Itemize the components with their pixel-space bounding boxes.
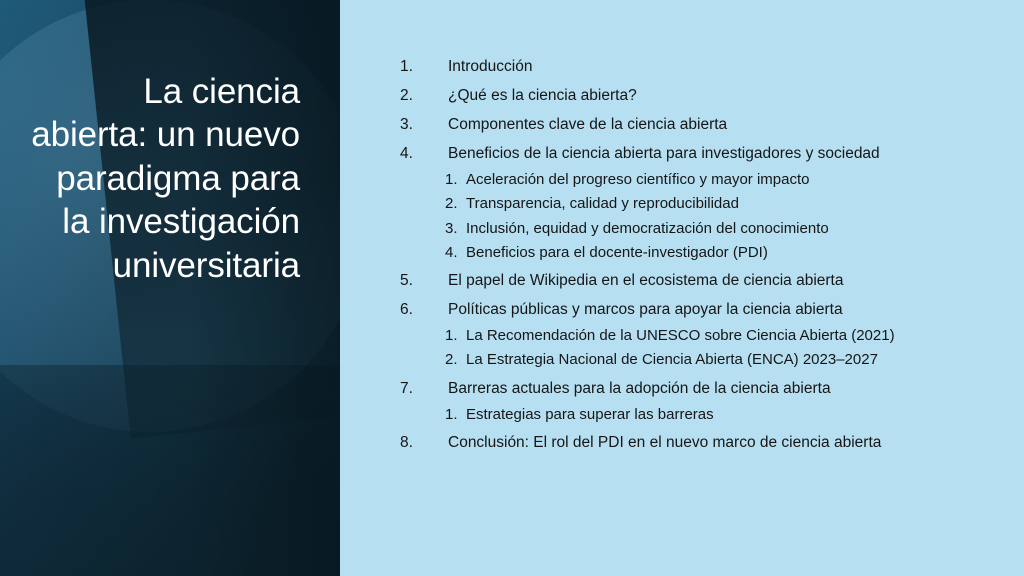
toc-subitem-label: La Estrategia Nacional de Ciencia Abiert… — [466, 349, 1010, 370]
toc-subitem-number: 1. — [445, 404, 466, 425]
toc-item-label: Conclusión: El rol del PDI en el nuevo m… — [448, 432, 1010, 454]
toc-item-label: Introducción — [448, 56, 1010, 78]
toc-group: 3.Componentes clave de la ciencia abiert… — [400, 114, 1010, 136]
toc-subitem[interactable]: 2.La Estrategia Nacional de Ciencia Abie… — [400, 349, 1010, 370]
toc-group: 6.Políticas públicas y marcos para apoya… — [400, 299, 1010, 371]
toc-subitem-label: Estrategias para superar las barreras — [466, 404, 1010, 425]
toc-subitem-number: 1. — [445, 325, 466, 346]
toc-subitem-label: Transparencia, calidad y reproducibilida… — [466, 193, 1010, 214]
toc-subitem-number: 1. — [445, 169, 466, 190]
presentation-slide: La ciencia abierta: un nuevo paradigma p… — [0, 0, 1024, 576]
table-of-contents: 1.Introducción2.¿Qué es la ciencia abier… — [400, 56, 1010, 461]
toc-sublist: 1.Aceleración del progreso científico y … — [400, 169, 1010, 263]
toc-subitem[interactable]: 4.Beneficios para el docente-investigado… — [400, 242, 1010, 263]
toc-subitem[interactable]: 1.Aceleración del progreso científico y … — [400, 169, 1010, 190]
toc-subitem-number: 3. — [445, 218, 466, 239]
slide-title: La ciencia abierta: un nuevo paradigma p… — [30, 70, 300, 287]
toc-item-number: 6. — [400, 299, 448, 321]
toc-group: 1.Introducción — [400, 56, 1010, 78]
toc-subitem-label: Aceleración del progreso científico y ma… — [466, 169, 1010, 190]
content-panel: 1.Introducción2.¿Qué es la ciencia abier… — [340, 0, 1024, 576]
toc-item-number: 3. — [400, 114, 448, 136]
toc-subitem-label: Beneficios para el docente-investigador … — [466, 242, 1010, 263]
toc-group: 2.¿Qué es la ciencia abierta? — [400, 85, 1010, 107]
toc-subitem-number: 4. — [445, 242, 466, 263]
toc-item[interactable]: 4.Beneficios de la ciencia abierta para … — [400, 143, 1010, 165]
toc-item-label: Políticas públicas y marcos para apoyar … — [448, 299, 1010, 321]
toc-sublist: 1.Estrategias para superar las barreras — [400, 404, 1010, 425]
toc-item-number: 4. — [400, 143, 448, 165]
toc-item[interactable]: 1.Introducción — [400, 56, 1010, 78]
toc-item[interactable]: 3.Componentes clave de la ciencia abiert… — [400, 114, 1010, 136]
toc-item-label: El papel de Wikipedia en el ecosistema d… — [448, 270, 1010, 292]
toc-item-number: 8. — [400, 432, 448, 454]
toc-subitem[interactable]: 3.Inclusión, equidad y democratización d… — [400, 218, 1010, 239]
toc-item-number: 5. — [400, 270, 448, 292]
toc-group: 8.Conclusión: El rol del PDI en el nuevo… — [400, 432, 1010, 454]
title-panel: La ciencia abierta: un nuevo paradigma p… — [0, 0, 340, 576]
toc-item[interactable]: 8.Conclusión: El rol del PDI en el nuevo… — [400, 432, 1010, 454]
toc-item-number: 2. — [400, 85, 448, 107]
toc-item-number: 1. — [400, 56, 448, 78]
toc-item[interactable]: 2.¿Qué es la ciencia abierta? — [400, 85, 1010, 107]
toc-item[interactable]: 5.El papel de Wikipedia en el ecosistema… — [400, 270, 1010, 292]
toc-item-label: Componentes clave de la ciencia abierta — [448, 114, 1010, 136]
toc-item-label: Barreras actuales para la adopción de la… — [448, 378, 1010, 400]
toc-item[interactable]: 7.Barreras actuales para la adopción de … — [400, 378, 1010, 400]
toc-item-label: ¿Qué es la ciencia abierta? — [448, 85, 1010, 107]
toc-group: 5.El papel de Wikipedia en el ecosistema… — [400, 270, 1010, 292]
toc-item[interactable]: 6.Políticas públicas y marcos para apoya… — [400, 299, 1010, 321]
toc-subitem-number: 2. — [445, 193, 466, 214]
toc-item-number: 7. — [400, 378, 448, 400]
toc-subitem-label: Inclusión, equidad y democratización del… — [466, 218, 1010, 239]
toc-group: 4.Beneficios de la ciencia abierta para … — [400, 143, 1010, 263]
toc-sublist: 1.La Recomendación de la UNESCO sobre Ci… — [400, 325, 1010, 371]
toc-item-label: Beneficios de la ciencia abierta para in… — [448, 143, 1010, 165]
toc-subitem-label: La Recomendación de la UNESCO sobre Cien… — [466, 325, 1010, 346]
toc-subitem-number: 2. — [445, 349, 466, 370]
toc-subitem[interactable]: 2.Transparencia, calidad y reproducibili… — [400, 193, 1010, 214]
toc-subitem[interactable]: 1.Estrategias para superar las barreras — [400, 404, 1010, 425]
toc-subitem[interactable]: 1.La Recomendación de la UNESCO sobre Ci… — [400, 325, 1010, 346]
toc-group: 7.Barreras actuales para la adopción de … — [400, 378, 1010, 425]
